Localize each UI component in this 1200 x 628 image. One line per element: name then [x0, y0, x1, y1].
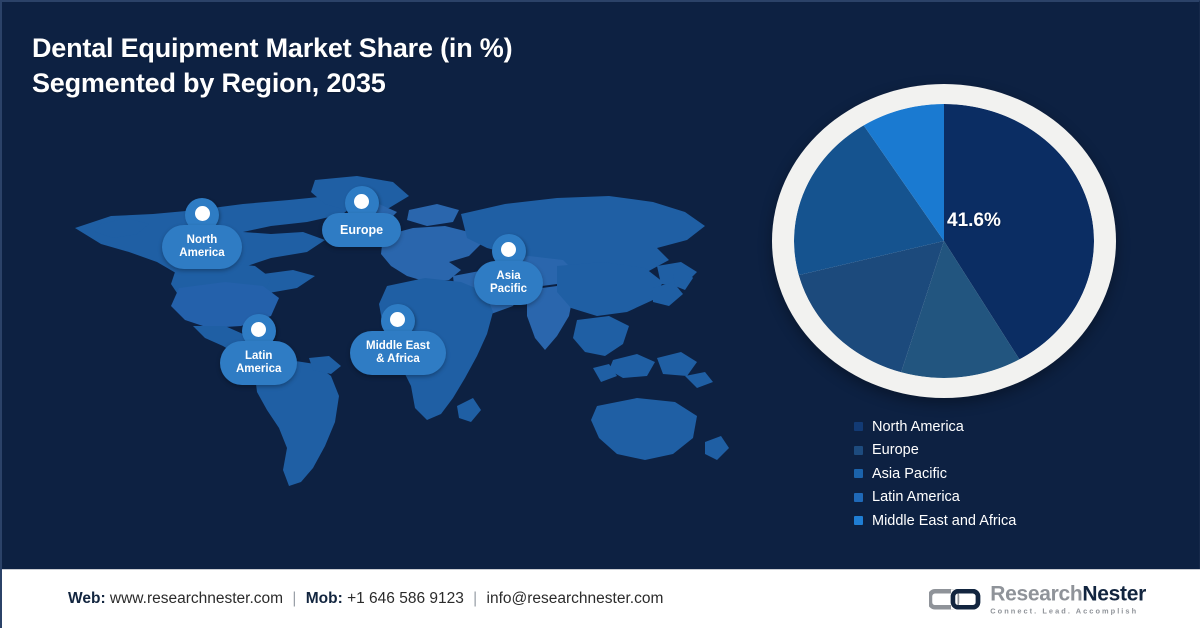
- logo-name-nester: Nester: [1082, 582, 1146, 605]
- legend-item-north-america[interactable]: North America: [854, 415, 1016, 439]
- legend-item-europe[interactable]: Europe: [854, 439, 1016, 463]
- map-pin-asia-pacific[interactable]: Asia Pacific: [474, 234, 543, 305]
- legend-swatch-icon: [854, 516, 863, 525]
- legend-item-middle-east-and-africa[interactable]: Middle East and Africa: [854, 509, 1016, 533]
- logo-tagline: Connect. Lead. Accomplish: [990, 607, 1146, 614]
- footer-mob-label: Mob:: [306, 590, 343, 607]
- interlocking-links-icon: [929, 586, 981, 612]
- page-title: Dental Equipment Market Share (in %) Seg…: [32, 31, 512, 100]
- legend-swatch-icon: [854, 446, 863, 455]
- legend-item-asia-pacific[interactable]: Asia Pacific: [854, 462, 1016, 486]
- logo-wordmark: ResearchNester Connect. Lead. Accomplish: [990, 583, 1146, 614]
- footer-mob-value[interactable]: +1 646 586 9123: [347, 590, 464, 607]
- pie-slice-label-north-america: 41.6%: [947, 210, 1001, 232]
- map-pin-latin-america[interactable]: Latin America: [220, 314, 297, 385]
- footer-bar: Web: www.researchnester.com | Mob: +1 64…: [2, 569, 1200, 628]
- research-nester-logo[interactable]: ResearchNester Connect. Lead. Accomplish: [929, 583, 1146, 614]
- chart-legend: North America Europe Asia Pacific Latin …: [854, 415, 1016, 533]
- pie-chart-svg[interactable]: [794, 104, 1094, 378]
- pie-chart-disc: [794, 104, 1094, 378]
- legend-label: Middle East and Africa: [872, 514, 1016, 529]
- pie-chart: 41.6%: [772, 84, 1116, 398]
- logo-name-research: Research: [990, 582, 1082, 605]
- legend-item-latin-america[interactable]: Latin America: [854, 486, 1016, 510]
- legend-label: Latin America: [872, 490, 960, 505]
- map-pin-label: Latin America: [220, 341, 297, 385]
- legend-swatch-icon: [854, 422, 863, 431]
- footer-separator-2: |: [468, 590, 482, 607]
- legend-label: Europe: [872, 443, 919, 458]
- map-pin-europe[interactable]: Europe: [322, 186, 401, 247]
- footer-separator-1: |: [287, 590, 301, 607]
- infographic-canvas: Dental Equipment Market Share (in %) Seg…: [0, 0, 1200, 628]
- footer-email[interactable]: info@researchnester.com: [487, 590, 664, 607]
- legend-swatch-icon: [854, 493, 863, 502]
- footer-web-value[interactable]: www.researchnester.com: [110, 590, 283, 607]
- map-pin-north-america[interactable]: North America: [162, 198, 242, 269]
- footer-web-label: Web:: [68, 590, 106, 607]
- legend-label: Asia Pacific: [872, 467, 947, 482]
- map-pin-label: Asia Pacific: [474, 261, 543, 305]
- legend-swatch-icon: [854, 469, 863, 478]
- map-pin-label: Europe: [322, 213, 401, 247]
- map-pin-middle-east-africa[interactable]: Middle East & Africa: [350, 304, 446, 375]
- map-pin-label: North America: [162, 225, 242, 269]
- legend-label: North America: [872, 420, 964, 435]
- map-pin-label: Middle East & Africa: [350, 331, 446, 375]
- footer-contact: Web: www.researchnester.com | Mob: +1 64…: [68, 590, 663, 608]
